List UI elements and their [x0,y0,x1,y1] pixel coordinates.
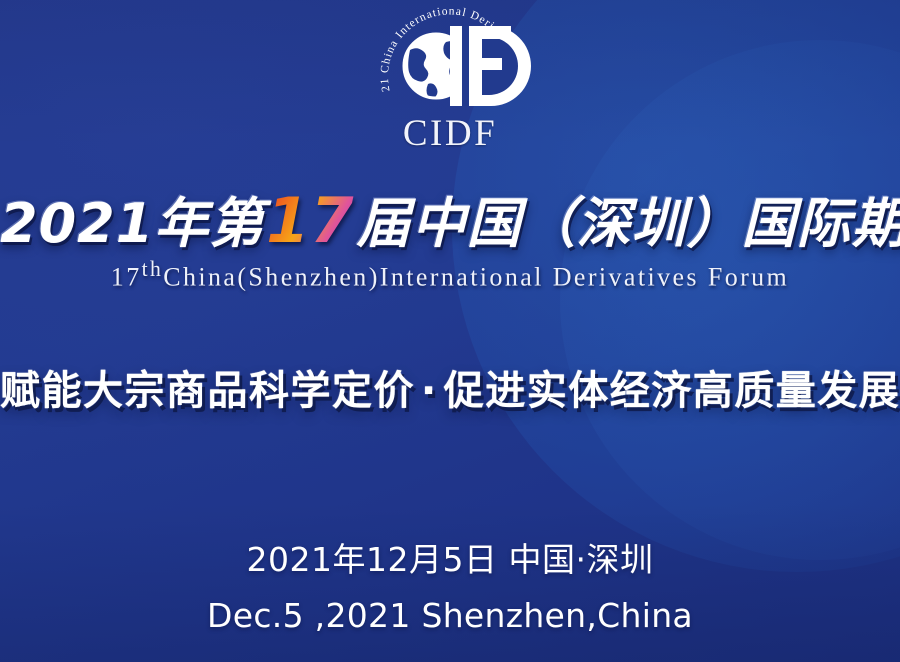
title-en-ordinal-suffix: th [142,257,164,281]
date-location-block: 2021年12月5日 中国·深圳 Dec.5 ,2021 Shenzhen,Ch… [0,536,900,640]
title-cn-prefix: 2021 [0,192,154,255]
slogan-separator: · [415,368,444,414]
cidf-logo-mark: 2021 China International Derivatives For… [366,6,534,118]
title-block: 2021年第17届中国（深圳）国际期货大会 17thChina(Shenzhen… [0,186,900,293]
logo-letters-df [450,26,531,106]
title-cn-suffix: 届中国（深圳）国际期货大会 [357,192,900,255]
title-en-ordinal: 17 [111,263,142,292]
conference-poster: 2021 China International Derivatives For… [0,0,900,662]
title-edition-number: 17 [264,184,356,257]
title-english: 17thChina(Shenzhen)International Derivat… [0,257,900,293]
slogan-right: 促进实体经济高质量发展 [444,368,900,414]
logo-block: 2021 China International Derivatives For… [0,6,900,152]
title-cn-middle: 年第 [154,192,264,255]
title-chinese: 2021年第17届中国（深圳）国际期货大会 [0,186,900,255]
date-location-english: Dec.5 ,2021 Shenzhen,China [0,592,900,640]
logo-acronym: CIDF [403,115,497,152]
title-en-rest: China(Shenzhen)International Derivatives… [163,263,789,292]
date-location-chinese: 2021年12月5日 中国·深圳 [0,536,900,584]
conference-slogan: 赋能大宗商品科学定价·促进实体经济高质量发展 [0,358,900,416]
slogan-left: 赋能大宗商品科学定价 [0,368,415,414]
